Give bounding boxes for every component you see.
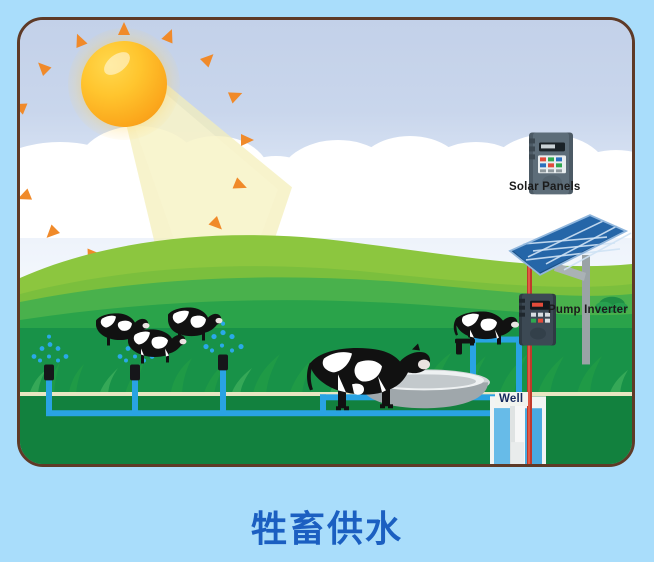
cow-icon <box>128 329 187 363</box>
page-caption: 牲畜供水 <box>0 500 654 552</box>
inverter-icon <box>519 294 556 346</box>
label-well: Well <box>495 392 528 406</box>
page-root: Solar Panels Pump Inverter Well 牲畜供水 <box>0 0 654 562</box>
equipment-overlay <box>20 20 632 464</box>
scene-canvas: Solar Panels Pump Inverter Well <box>20 20 632 464</box>
label-pump-inverter: Pump Inverter <box>548 304 628 316</box>
sprinkler-icon <box>32 335 69 381</box>
label-solar-panels: Solar Panels <box>509 181 580 193</box>
well-icon <box>490 396 546 464</box>
illustration-frame: Solar Panels Pump Inverter Well <box>17 17 635 467</box>
